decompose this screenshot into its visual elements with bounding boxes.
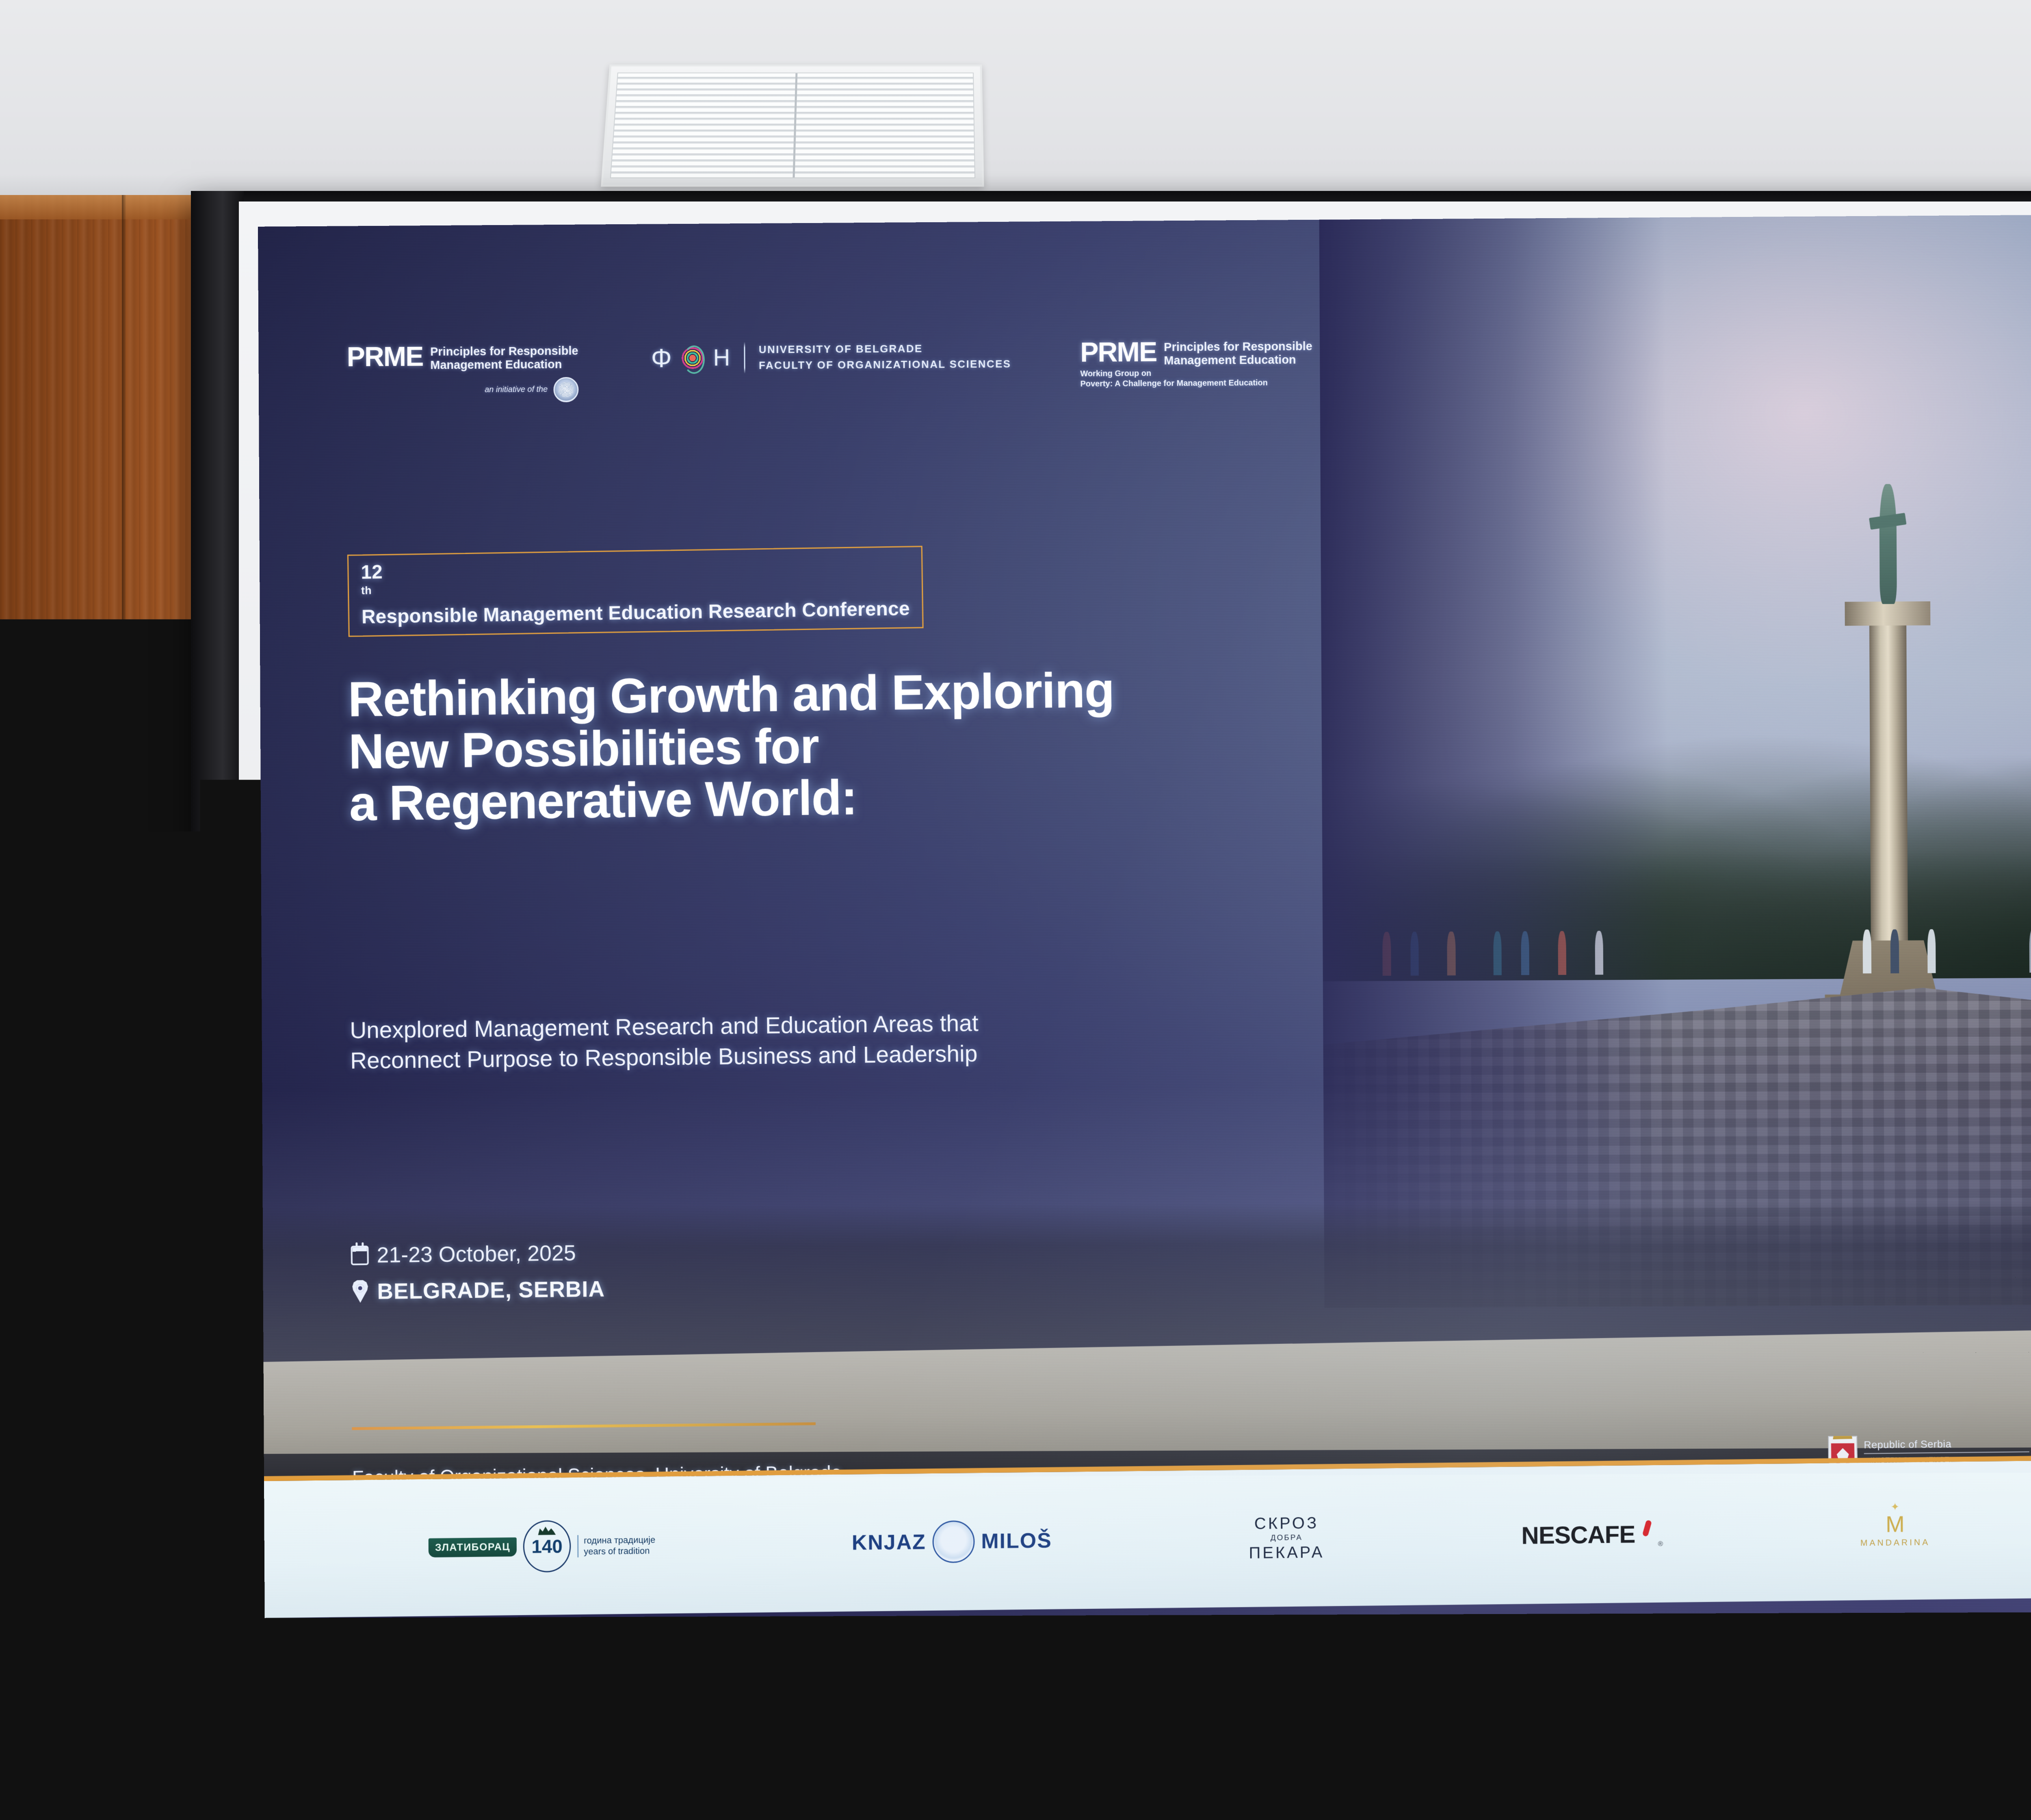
slide-logo-row: PRME Principles for Responsible Manageme… [347,332,2031,469]
nescafe-registered-mark: ® [1658,1540,1663,1548]
screen-frame-bottom [191,1625,2031,1694]
skroz-line-1: СКРОЗ [1249,1514,1324,1532]
fir-tree-icon [538,1526,556,1535]
skroz-line-2: ДОБРА [1249,1534,1324,1543]
vent-louvers [610,73,975,178]
prme-wordmark: PRME [347,344,423,370]
prme-initiative-label: an initiative of the [485,385,548,395]
date-row: 21-23 October, 2025 [351,1240,605,1268]
fon-institution-text: UNIVERSITY OF BELGRADE FACULTY OF ORGANI… [759,340,1011,373]
fon-phi-letter: Φ [651,345,672,371]
slide-subtitle: Unexplored Management Research and Educa… [350,1001,1634,1077]
fon-logo: Φ Н UNIVERSITY OF BELGRADE FACULTY OF OR… [651,340,1011,374]
slide-meta: 21-23 October, 2025 BELGRADE, SERBIA [351,1240,605,1315]
prme-wg-wordmark: PRME [1080,339,1157,365]
skroz-line-3: ПЕКАРА [1249,1544,1324,1562]
fon-concentric-rings-icon [678,344,707,372]
prme-working-group-logo: PRME Principles for Responsible Manageme… [1080,338,1312,389]
sponsor-nescafe: NESCAFE ® [1521,1520,1663,1549]
crown-icon [1832,1427,1852,1440]
prme-primary-logo: PRME Principles for Responsible Manageme… [347,343,579,403]
un-globe-emblem-icon [553,377,578,402]
screen-frame-left [191,191,244,1694]
conference-date: 21-23 October, 2025 [377,1240,576,1267]
zlatiborac-140-seal-icon: 140 [523,1520,571,1573]
location-row: BELGRADE, SERBIA [351,1276,605,1304]
knjaz-milos-seal-icon [932,1520,974,1563]
ordinal-suffix: th [361,584,372,596]
zlatiborac-years-number: 140 [531,1537,563,1556]
wood-seam [122,195,126,1820]
gold-divider-rule [352,1422,816,1430]
sponsor-zlatiborac: ЗЛАТИБОРАЦ 140 година традиције years of… [429,1519,656,1573]
projection-screen-assembly[interactable]: PRME Principles for Responsible Manageme… [191,191,2031,1694]
knjaz-word: KNJAZ [852,1530,926,1555]
sponsor-knjaz-milos: KNJAZ MILOŠ [852,1519,1052,1564]
location-pin-icon [351,1280,369,1303]
mandarina-wordmark: MANDARINA [1860,1538,1930,1548]
conference-edition-text: 12th Responsible Management Education Re… [361,553,910,628]
calendar-icon [351,1246,369,1265]
prme-wg-tagline: Principles for Responsible Management Ed… [1164,338,1312,368]
zlatiborac-tradition-text: година традиције years of tradition [577,1534,655,1557]
logo-divider [744,342,745,373]
conference-edition-ribbon: 12th Responsible Management Education Re… [347,546,924,637]
zlatiborac-wordmark: ЗЛАТИБОРАЦ [429,1537,517,1557]
sponsor-mandarina: M MANDARINA [1860,1514,1930,1548]
conference-location: BELGRADE, SERBIA [377,1276,605,1304]
prme-wg-subtitle: Working Group on Poverty: A Challenge fo… [1080,368,1312,389]
slide-main-title: Rethinking Growth and Exploring New Poss… [348,656,1722,830]
room: PRME Principles for Responsible Manageme… [0,0,2031,1820]
milos-word: MILOŠ [981,1528,1052,1553]
fon-h-letter: Н [713,346,730,370]
ministry-country: Republic of Serbia [1864,1439,1951,1451]
prme-tagline: Principles for Responsible Management Ed… [430,343,578,372]
sponsor-bar: ЗЛАТИБОРАЦ 140 година традиције years of… [264,1451,2031,1618]
sponsor-skroz-dobra-pekara: СКРОЗ ДОБРА ПЕКАРА [1249,1514,1325,1562]
nescafe-wordmark: NESCAFE [1521,1520,1635,1549]
ceiling-vent-icon [601,65,984,187]
mandarina-crown-monogram-icon: M [1860,1514,1930,1534]
conference-slide: PRME Principles for Responsible Manageme… [258,212,2031,1618]
nescafe-accent-icon [1642,1519,1652,1536]
